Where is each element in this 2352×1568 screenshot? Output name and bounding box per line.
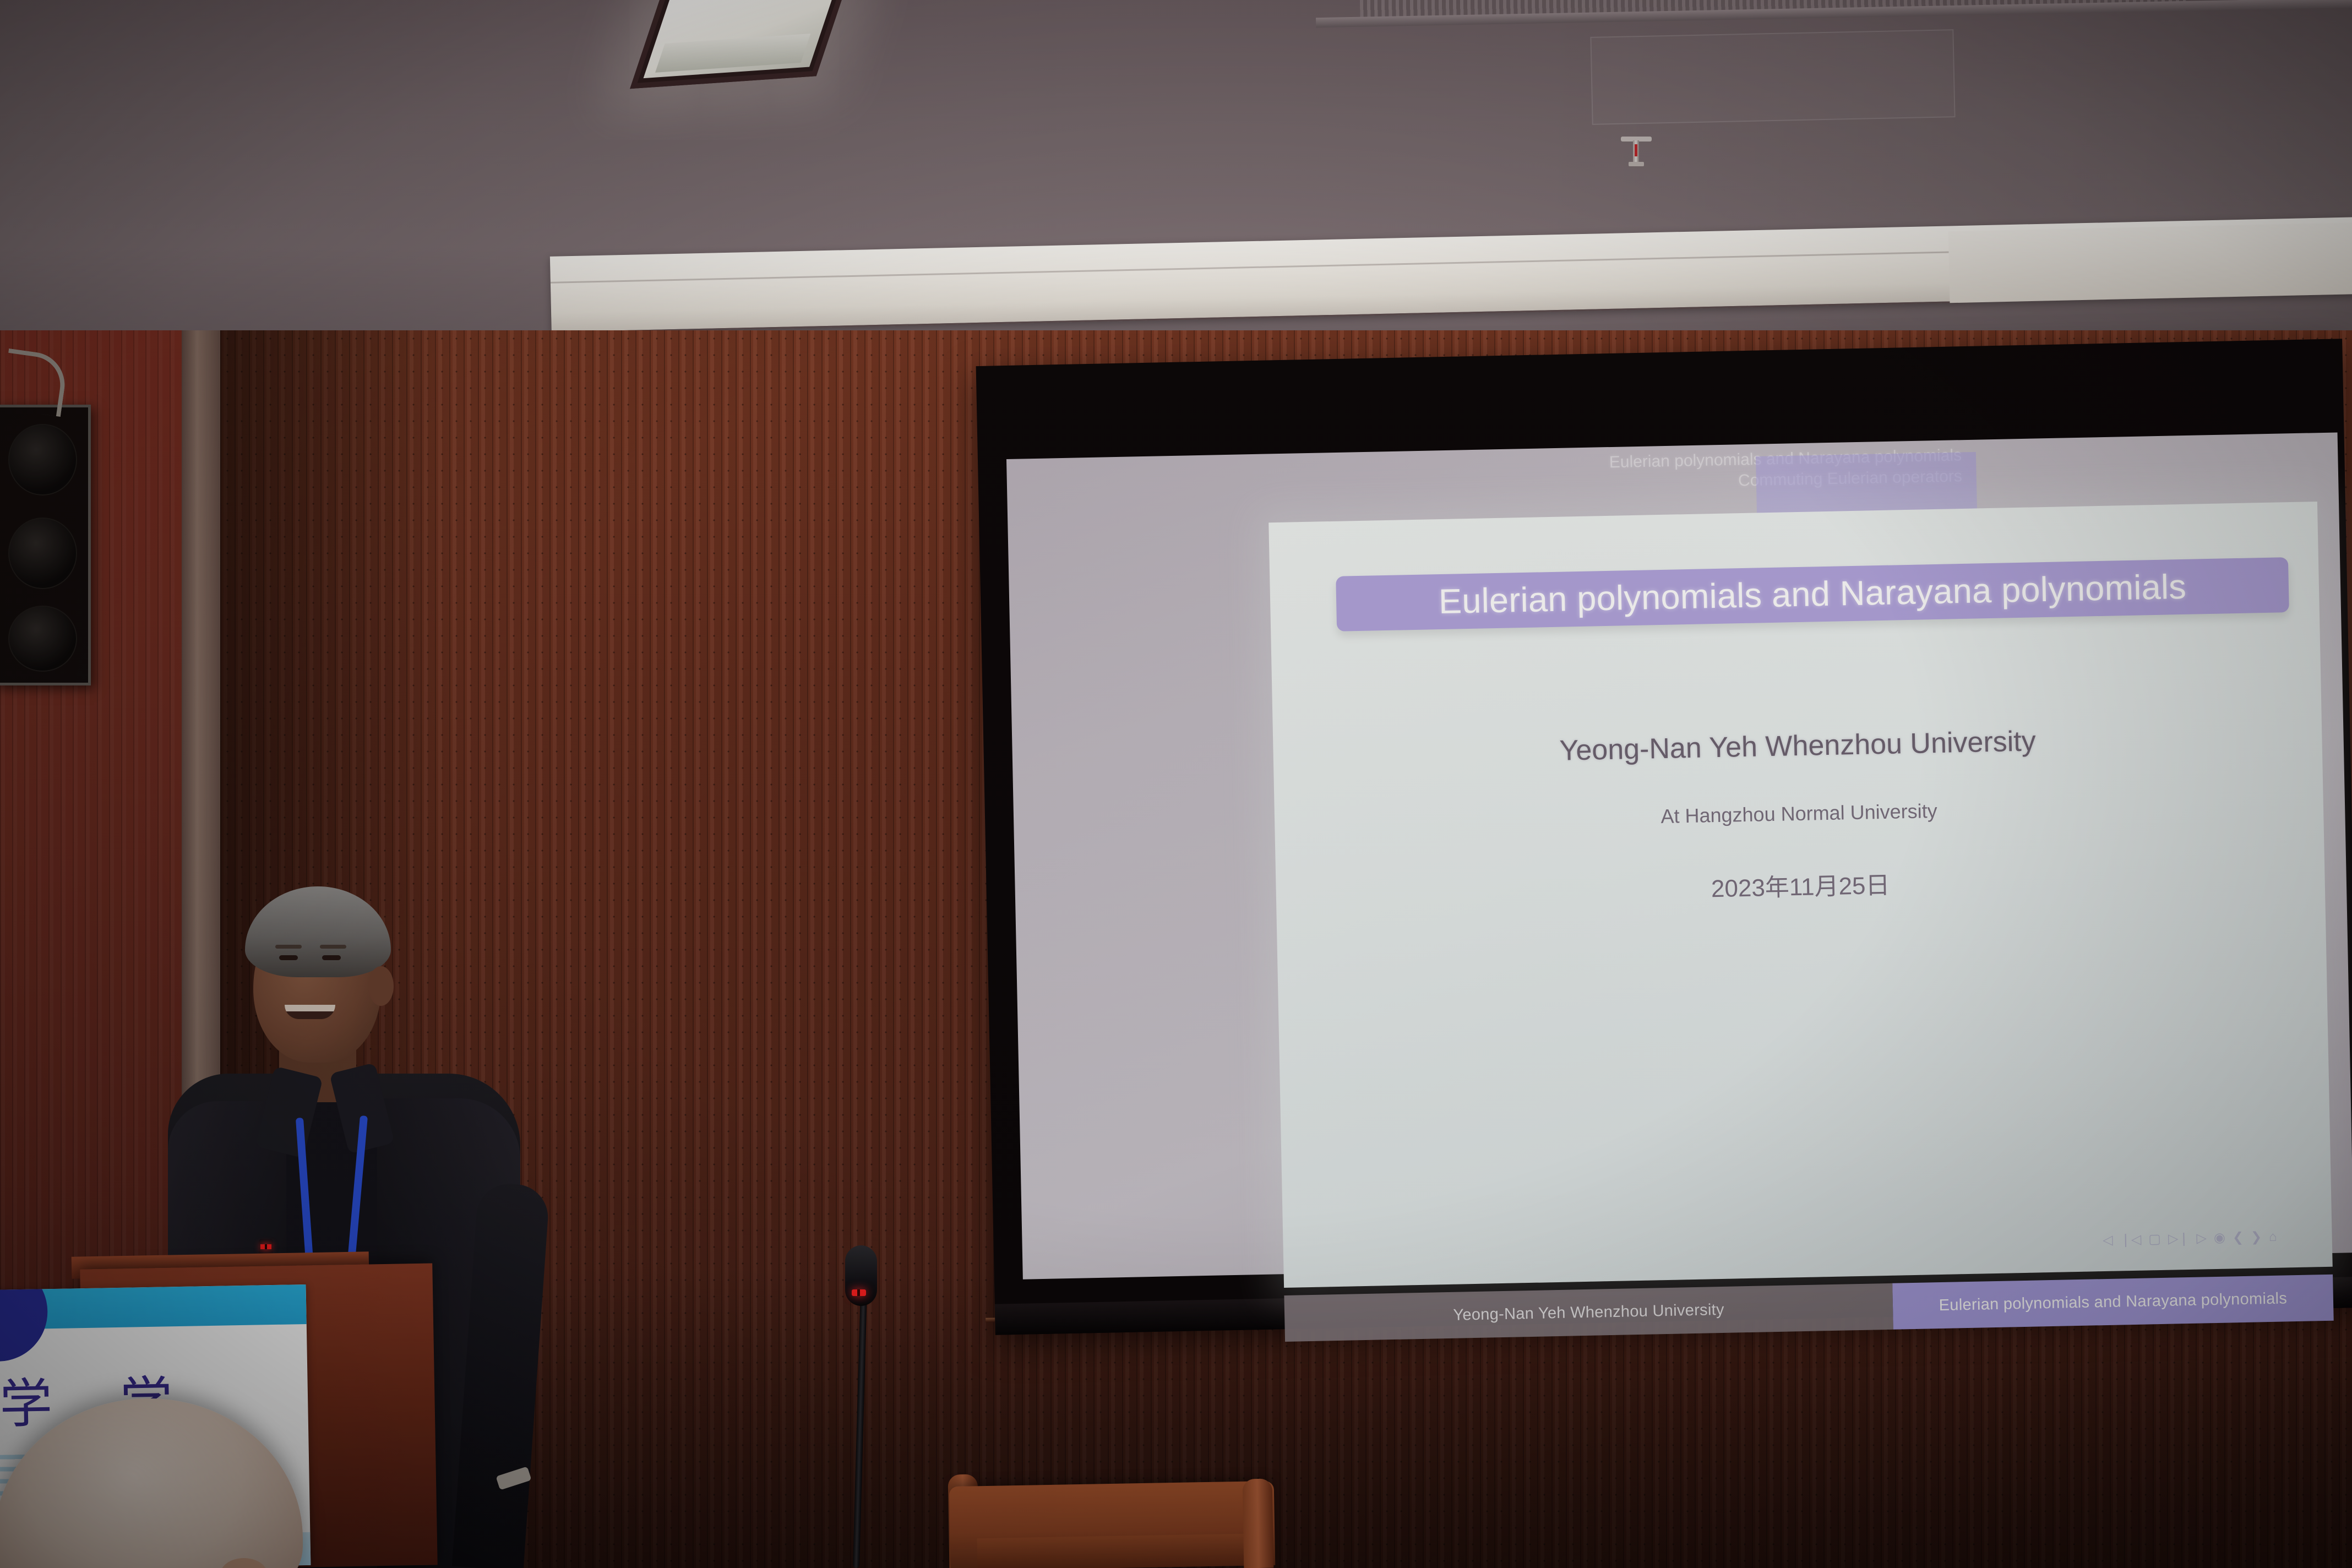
nav-back-icon[interactable]: ❮ (2233, 1231, 2244, 1244)
nav-prev-slide-icon[interactable]: ◁ (2103, 1234, 2113, 1247)
presenter-mouth (285, 1005, 335, 1019)
microphone-icon (845, 1245, 877, 1306)
chair-post-right (1243, 1479, 1274, 1568)
presenter-eye-right (322, 955, 341, 960)
presenter-eye-left (279, 955, 298, 960)
banner-logo-circle-icon (0, 1284, 48, 1362)
lamp-surface (644, 0, 838, 78)
speaker-driver (8, 606, 77, 672)
conference-photo-scene: Eulerian polynomials and Narayana polyno… (0, 0, 2352, 1568)
slide-venue: At Hangzhou Normal University (1275, 792, 2323, 836)
sprinkler-bulb (1635, 144, 1637, 156)
ceiling-access-panel (1590, 29, 1955, 125)
slide-title: Eulerian polynomials and Narayana polyno… (1438, 567, 2186, 622)
nav-next-slide-icon[interactable]: ▷ (2196, 1232, 2207, 1245)
presenter-ear (368, 966, 394, 1006)
nav-doc-icon[interactable]: ◉ (2214, 1232, 2225, 1245)
speaker-driver (8, 518, 77, 589)
slide-ghost-header-block (1756, 452, 1977, 517)
nav-forward-icon[interactable]: ❯ (2251, 1231, 2262, 1244)
microphone-status-led (852, 1289, 866, 1296)
presenter-eyebrow-right (320, 945, 346, 949)
presenter-hair (245, 886, 391, 977)
nav-first-slide-icon[interactable]: ❘◁ (2120, 1233, 2141, 1247)
lapel-microphone-led (260, 1244, 271, 1249)
nav-last-slide-icon[interactable]: ▷❘ (2168, 1232, 2190, 1246)
slide-author: Yeong-Nan Yeh Whenzhou University (1273, 719, 2322, 773)
slide-footer-author-label: Yeong-Nan Yeh Whenzhou University (1453, 1300, 1724, 1324)
wall-valance-right (1948, 222, 2352, 303)
slide-footer-title: Eulerian polynomials and Narayana polyno… (1892, 1275, 2334, 1330)
sprinkler-deflector (1629, 162, 1644, 166)
nav-frame-icon[interactable]: ▢ (2148, 1233, 2161, 1246)
lamp-reflector (655, 34, 811, 72)
fire-sprinkler-icon (1621, 137, 1652, 173)
wall-speaker-icon (0, 405, 91, 685)
projected-slide: Eulerian polynomials and Narayana polyno… (1268, 502, 2333, 1288)
beamer-navigation-symbols[interactable]: ◁ ❘◁ ▢ ▷❘ ▷ ◉ ❮ ❯ ⌂ (2103, 1231, 2277, 1247)
slide-title-band: Eulerian polynomials and Narayana polyno… (1336, 557, 2289, 631)
chair-slat (977, 1534, 1248, 1568)
slide-footer-title-label: Eulerian polynomials and Narayana polyno… (1939, 1289, 2287, 1315)
speaker-driver (8, 424, 77, 496)
nav-home-icon[interactable]: ⌂ (2269, 1231, 2277, 1244)
slide-date: 2023年11月25日 (1276, 857, 2325, 913)
presenter-eyebrow-left (275, 945, 302, 949)
presenter-teeth (285, 1005, 335, 1011)
